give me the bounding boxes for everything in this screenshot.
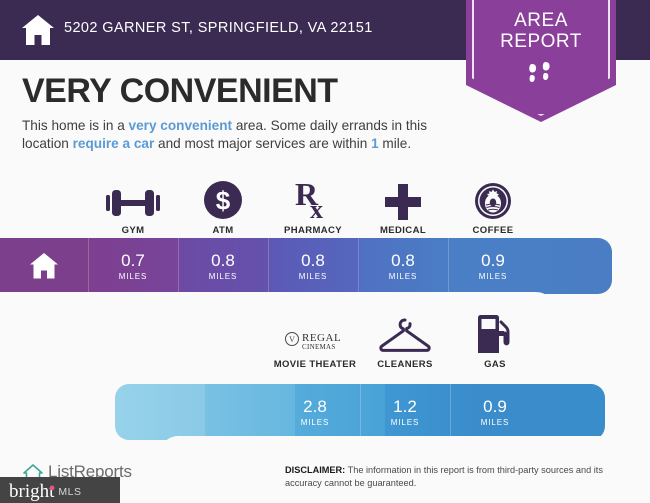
category-label: PHARMACY [268,225,358,236]
distance-value: 0.7 [121,252,145,270]
distance-value: 0.9 [483,398,507,416]
medical-cross-icon [358,178,448,220]
distance-cell-movie-theater: 2.8 MILES [270,384,360,440]
category-icon-row-primary: GYM $ ATM R x PHARMACY [88,178,538,236]
category-movie-theater: V REGAL CINEMAS MOVIE THEATER [270,312,360,370]
category-label: ATM [178,225,268,236]
rx-icon: R x [268,178,358,220]
distance-value: 0.8 [301,252,325,270]
home-icon [29,252,59,280]
disclaimer-label: DISCLAIMER: [285,465,345,475]
summary-text: This home is in a very convenient area. … [22,117,462,153]
bright-mls-badge: bright ● MLS [0,477,120,503]
summary-highlight-3: 1 [371,136,379,151]
summary-part-4: mile. [379,136,411,151]
category-cleaners: CLEANERS [360,312,450,370]
category-label: COFFEE [448,225,538,236]
starbucks-logo-icon [448,178,538,220]
distance-unit: MILES [209,272,238,281]
disclaimer-text: DISCLAIMER: The information in this repo… [285,464,615,489]
distance-cell-cleaners: 1.2 MILES [360,384,450,440]
page-title: VERY CONVENIENT [22,72,338,111]
svg-text:CINEMAS: CINEMAS [302,343,336,351]
dumbbell-icon [88,178,178,220]
category-label: CLEANERS [360,359,450,370]
distance-bar-primary: 0.7 MILES 0.8 MILES 0.8 MILES 0.8 MILES … [0,238,612,294]
category-gas: GAS [450,312,540,370]
bright-mls-accent-dot: ● [49,482,56,494]
summary-highlight-2: require a car [73,136,155,151]
badge-title-line2: REPORT [466,31,616,52]
distance-cell-pharmacy: 0.8 MILES [268,238,358,294]
gas-pump-icon [450,312,540,354]
badge-title: AREA REPORT [466,10,616,52]
area-report-badge: AREA REPORT [466,0,616,122]
distance-unit: MILES [481,418,510,427]
property-address: 5202 GARNER ST, SPRINGFIELD, VA 22151 [64,20,373,36]
distance-unit: MILES [299,272,328,281]
distance-cell-coffee: 0.9 MILES [448,238,538,294]
footprints-icon [466,62,616,93]
distance-cell-atm: 0.8 MILES [178,238,268,294]
svg-text:V: V [289,335,295,344]
category-medical: MEDICAL [358,178,448,236]
distance-cell-gas: 0.9 MILES [450,384,540,440]
distance-unit: MILES [479,272,508,281]
distance-value: 0.9 [481,252,505,270]
bright-mls-wordmark: bright ● [9,481,54,503]
distance-unit: MILES [119,272,148,281]
badge-title-line1: AREA [466,10,616,31]
category-atm: $ ATM [178,178,268,236]
category-pharmacy: R x PHARMACY [268,178,358,236]
category-icon-row-secondary: V REGAL CINEMAS MOVIE THEATER CLEANERS [270,312,540,370]
distance-value: 0.8 [211,252,235,270]
distance-value: 0.8 [391,252,415,270]
distance-value: 2.8 [303,398,327,416]
distance-unit: MILES [391,418,420,427]
regal-cinemas-logo-icon: V REGAL CINEMAS [270,312,360,354]
category-label: GAS [450,359,540,370]
distance-unit: MILES [389,272,418,281]
summary-part-3: and most major services are within [154,136,371,151]
svg-text:x: x [310,195,323,220]
category-gym: GYM [88,178,178,236]
bright-mls-sub-text: MLS [58,486,81,498]
svg-text:$: $ [216,186,231,216]
house-icon [20,13,56,47]
summary-highlight-1: very convenient [129,118,233,133]
bright-mls-main-text: bright [9,481,54,502]
category-label: MEDICAL [358,225,448,236]
distance-value: 1.2 [393,398,417,416]
home-marker-cell [0,238,88,294]
clothes-hanger-icon [360,312,450,354]
distance-bar-spacer [115,384,270,440]
area-report-infographic: 5202 GARNER ST, SPRINGFIELD, VA 22151 AR… [0,0,650,503]
distance-cell-gym: 0.7 MILES [88,238,178,294]
category-coffee: COFFEE [448,178,538,236]
distance-cell-medical: 0.8 MILES [358,238,448,294]
distance-bar-secondary: 2.8 MILES 1.2 MILES 0.9 MILES [115,384,605,440]
category-label: GYM [88,225,178,236]
category-label: MOVIE THEATER [270,359,360,370]
summary-part-1: This home is in a [22,118,129,133]
dollar-circle-icon: $ [178,178,268,220]
distance-unit: MILES [301,418,330,427]
